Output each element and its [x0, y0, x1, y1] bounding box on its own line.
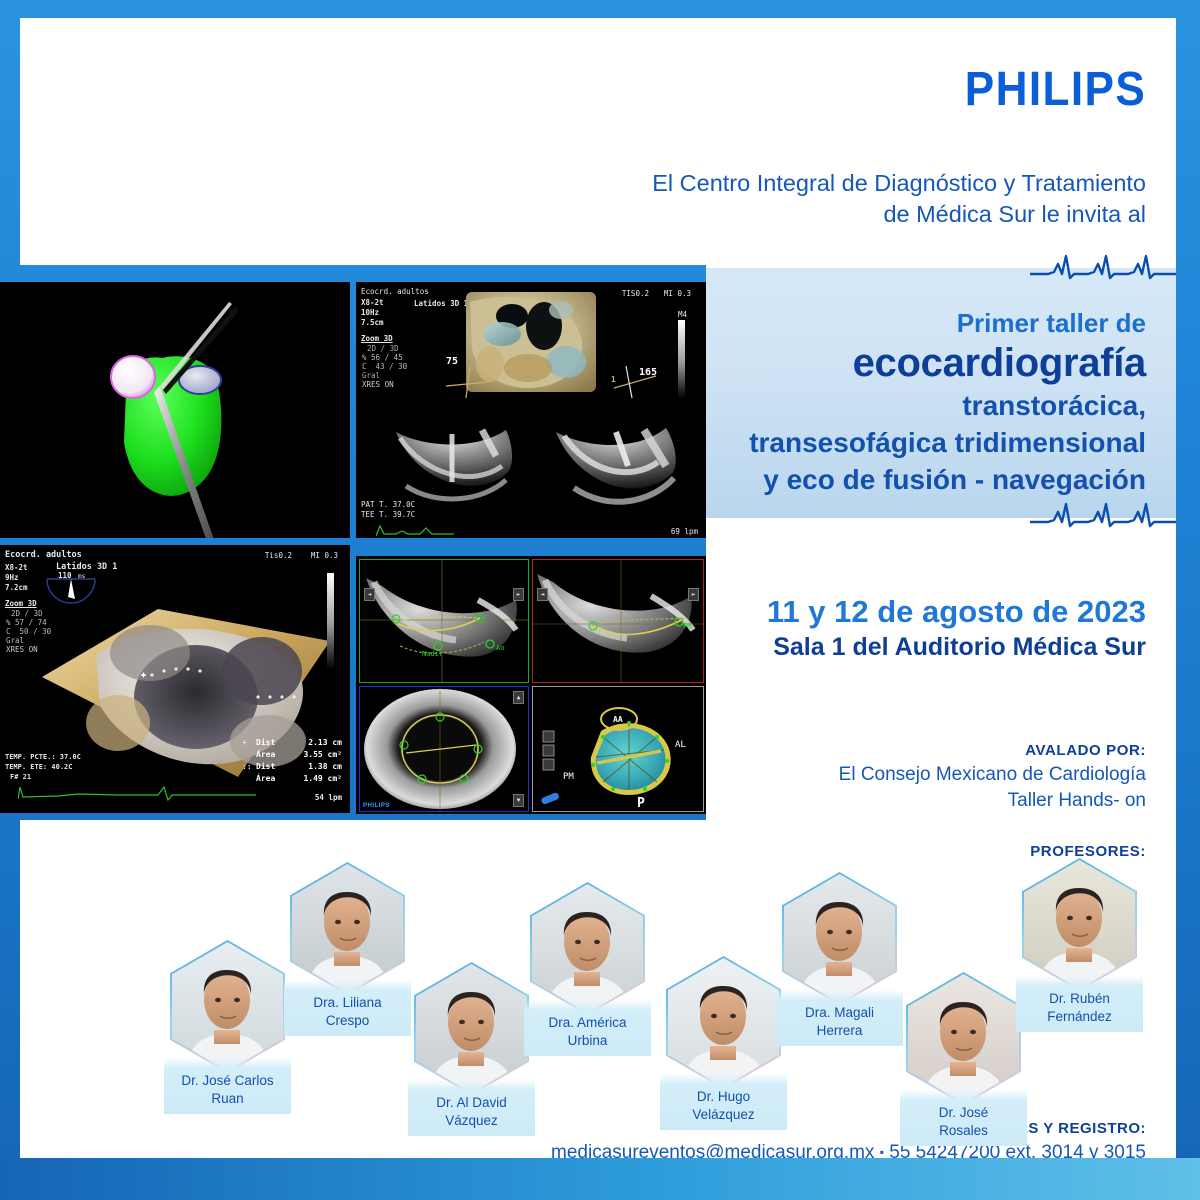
professor-portrait	[172, 942, 283, 1071]
professor-portrait	[416, 964, 527, 1093]
us-tr-zoom-l1: 2D / 3D	[367, 344, 399, 353]
us-measurement-value: 2.13 cm	[290, 737, 342, 749]
professor-portrait	[1024, 860, 1135, 989]
professor-name: Dr. Al DavidVázquez	[408, 1080, 535, 1136]
us-br-red-btn-left[interactable]: ◄	[537, 588, 548, 601]
professor-card: Dra. AméricaUrbina	[530, 882, 645, 1015]
professor-photo	[666, 956, 781, 1089]
professor-name-line-1: Dra. Liliana	[284, 994, 411, 1012]
professors-row: Dr. José CarlosRuanDra. LilianaCrespoDr.…	[20, 820, 1176, 1120]
us-measurement-icon: ::	[242, 761, 256, 773]
professor-name-line-2: Velázquez	[660, 1106, 787, 1124]
professor-name-line-2: Crespo	[284, 1012, 411, 1030]
professor-photo	[170, 940, 285, 1073]
us-bl-zoom-l4: Gral	[6, 636, 24, 645]
philips-logo: PHILIPS	[965, 62, 1146, 117]
ultrasound-panel-top-left	[0, 282, 350, 538]
us-tr-bpm: 69 lpm	[671, 527, 698, 536]
poster-root: PHILIPS El Centro Integral de Diagnóstic…	[0, 0, 1200, 1200]
us-br-view-model: AA AL PM P	[532, 686, 704, 812]
us-br-green-btn-right[interactable]: ►	[513, 588, 524, 601]
us-bl-temp-pcte: TEMP. PCTE.: 37.0C	[5, 753, 81, 762]
professor-name-line-1: Dr. José	[900, 1104, 1027, 1122]
heart-3d-render	[0, 282, 350, 538]
svg-text:P: P	[637, 796, 645, 811]
us-bl-ecg-trace	[18, 783, 258, 803]
professor-photo	[1022, 858, 1137, 991]
professor-portrait	[784, 874, 895, 1003]
us-measurement-label: Dist	[256, 737, 290, 749]
svg-text:AL: AL	[675, 740, 686, 750]
us-tr-zoom-l4: Gral	[362, 371, 380, 380]
us-bl-measurements: +Dist2.13 cmÁrea3.55 cm²::Dist1.38 cmÁre…	[242, 737, 342, 785]
professor-photo	[530, 882, 645, 1015]
us-tr-beats: Latidos 3D 1	[414, 299, 468, 308]
us-measurement-value: 1.49 cm²	[290, 773, 342, 785]
professor-name: Dra. MagaliHerrera	[776, 990, 903, 1046]
professor-card: Dr. RubénFernández	[1022, 858, 1137, 991]
us-br-green-btn-left[interactable]: ◄	[364, 588, 375, 601]
us-tr-angle-right: 165	[639, 368, 657, 377]
invitation-text: El Centro Integral de Diagnóstico y Trat…	[446, 168, 1146, 230]
us-bl-frame: F# 21	[10, 773, 31, 782]
professor-name-line-1: Dr. Al David	[408, 1094, 535, 1112]
ecg-line-icon-bottom	[1030, 500, 1176, 532]
svg-text:Nadir: Nadir	[422, 650, 443, 658]
us-bl-gauge-unit: ms	[78, 572, 85, 581]
us-bl-mode: Ecocrd. adultos	[5, 551, 82, 560]
professor-portrait	[668, 958, 779, 1087]
us-br-view-red: PM ◄ ►	[532, 559, 704, 683]
ultrasound-panel-top-right: Ecocrd. adultos X8-2t 10Hz 7.5cm Latidos…	[356, 282, 706, 538]
us-tr-zoom-l2: % 56 / 45	[362, 353, 403, 362]
us-bl-probe: X8-2t	[5, 563, 28, 572]
us-tr-temp-pat: PAT T. 37.0C	[361, 500, 415, 509]
professor-card: Dr. JoséRosales	[906, 972, 1021, 1105]
us-bl-zoom-l1: 2D / 3D	[11, 609, 43, 618]
professor-name: Dra. LilianaCrespo	[284, 980, 411, 1036]
us-bl-zoom-l2: % 57 / 74	[6, 618, 47, 627]
professor-photo	[290, 862, 405, 995]
professor-card: Dr. HugoVelázquez	[666, 956, 781, 1089]
us-measurement-value: 1.38 cm	[290, 761, 342, 773]
us-bl-grayscale-bar	[327, 573, 334, 669]
professor-card: Dra. MagaliHerrera	[782, 872, 897, 1005]
us-bl-tis: Tis0.2	[265, 551, 292, 560]
professor-name-line-2: Fernández	[1016, 1008, 1143, 1026]
ultrasound-panel-bottom-left: Ecocrd. adultos X8-2t 9Hz 7.2cm Latidos …	[0, 545, 350, 813]
us-tr-freq: 10Hz	[361, 308, 379, 317]
professor-name: Dr. JoséRosales	[900, 1090, 1027, 1146]
us-tr-angle-left: 75	[446, 357, 458, 366]
professor-portrait	[292, 864, 403, 993]
professor-name-line-1: Dr. José Carlos	[164, 1072, 291, 1090]
us-tr-mode: Ecocrd. adultos	[361, 287, 429, 296]
us-tr-zoom-heading: Zoom 3D	[361, 334, 393, 343]
professor-photo	[414, 962, 529, 1095]
us-measurement-label: Área	[256, 749, 290, 761]
us-tr-temp-tee: TEE T. 39.7C	[361, 510, 415, 519]
professor-name-line-1: Dr. Rubén	[1016, 990, 1143, 1008]
us-tr-ecg-trace	[376, 522, 456, 538]
professor-name-line-2: Ruan	[164, 1090, 291, 1108]
us-bl-zoom-l3: C 50 / 30	[6, 627, 51, 636]
professor-name-line-2: Herrera	[776, 1022, 903, 1040]
ecg-line-icon-top	[1030, 252, 1176, 284]
bottom-accent-bar	[0, 1158, 1200, 1200]
professor-card: Dra. LilianaCrespo	[290, 862, 405, 995]
bullet-icon-1: ▪	[880, 1145, 884, 1159]
us-bl-depth: 7.2cm	[5, 583, 28, 592]
us-bl-freq: 9Hz	[5, 573, 19, 582]
us-br-blue-btn-down[interactable]: ▼	[513, 794, 524, 807]
invitation-line-2: de Médica Sur le invita al	[446, 199, 1146, 230]
philips-watermark: PHILIPS	[363, 803, 390, 809]
us-br-blue-btn-up[interactable]: ▲	[513, 691, 524, 704]
us-br-view-blue: ▲ ▼ PHILIPS	[359, 686, 529, 812]
professor-portrait	[908, 974, 1019, 1103]
us-measurement-icon	[242, 749, 256, 761]
svg-text:PM: PM	[683, 622, 691, 630]
svg-text:AA: AA	[613, 715, 623, 724]
invitation-line-1: El Centro Integral de Diagnóstico y Trat…	[446, 168, 1146, 199]
us-br-red-btn-right[interactable]: ►	[688, 588, 699, 601]
professor-name: Dra. AméricaUrbina	[524, 1000, 651, 1056]
us-tr-depth: 7.5cm	[361, 318, 384, 327]
professor-portrait	[532, 884, 643, 1013]
professor-card: Dr. Al DavidVázquez	[414, 962, 529, 1095]
professor-photo	[906, 972, 1021, 1105]
us-bl-zoom-l5: XRES ON	[6, 645, 38, 654]
us-measurement-row: Área3.55 cm²	[242, 749, 342, 761]
us-br-view-green: Nadir Ao ◄ ►	[359, 559, 529, 683]
us-tr-probe: X8-2t	[361, 298, 384, 307]
professor-name-line-2: Urbina	[524, 1032, 651, 1050]
us-tr-zoom-l5: XRES ON	[362, 380, 394, 389]
us-bl-bpm: 54 lpm	[315, 793, 342, 802]
professor-name-line-1: Dra. Magali	[776, 1004, 903, 1022]
us-bl-zoom-heading: Zoom 3D	[5, 599, 37, 608]
professor-card: Dr. José CarlosRuan	[170, 940, 285, 1073]
ultrasound-panel-bottom-right: Nadir Ao ◄ ► PM ◄ ►	[356, 556, 706, 814]
us-tr-zoom-l3: C 43 / 30	[362, 362, 407, 371]
us-measurement-label: Dist	[256, 761, 290, 773]
us-measurement-row: ::Dist1.38 cm	[242, 761, 342, 773]
professor-name-line-1: Dra. América	[524, 1014, 651, 1032]
us-measurement-icon: +	[242, 737, 256, 749]
us-tr-angle-marker: 1	[611, 375, 616, 384]
professor-photo	[782, 872, 897, 1005]
us-measurement-value: 3.55 cm²	[290, 749, 342, 761]
professor-name-line-2: Vázquez	[408, 1112, 535, 1130]
us-measurement-row: +Dist2.13 cm	[242, 737, 342, 749]
svg-text:PM: PM	[563, 772, 574, 782]
us-bl-mi: MI 0.3	[311, 551, 338, 560]
us-bl-gauge-value: 110	[58, 571, 72, 580]
svg-text:Ao: Ao	[496, 644, 504, 652]
us-measurement-label: Área	[256, 773, 290, 785]
professor-name: Dr. RubénFernández	[1016, 976, 1143, 1032]
professor-name: Dr. José CarlosRuan	[164, 1058, 291, 1114]
professor-name-line-1: Dr. Hugo	[660, 1088, 787, 1106]
professor-name: Dr. HugoVelázquez	[660, 1074, 787, 1130]
us-bl-temp-ete: TEMP. ETE: 40.2C	[5, 763, 72, 772]
professor-name-line-2: Rosales	[900, 1122, 1027, 1140]
